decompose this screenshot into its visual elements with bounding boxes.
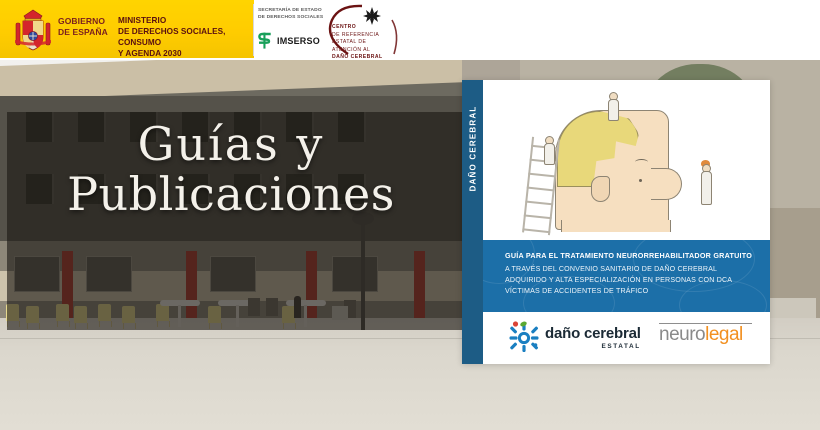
eye-icon — [635, 159, 648, 165]
cover-text-content: GUÍA PARA EL TRATAMIENTO NEURORREHABILIT… — [505, 251, 755, 297]
ladder-rung — [524, 214, 552, 219]
cover-logo-row: daño cerebral ESTATAL neurolegal — [483, 312, 770, 364]
starburst-icon — [363, 7, 381, 25]
neurolegal-part-2: legal — [705, 324, 743, 345]
neurolegal-logo: neurolegal — [659, 323, 759, 344]
neurolegal-part-1: neuro — [659, 324, 705, 345]
publication-cover-card[interactable]: DAÑO CEREBRAL — [462, 80, 770, 364]
government-line-2: DE ESPAÑA — [58, 27, 108, 38]
cover-spine: DAÑO CEREBRAL — [462, 80, 483, 364]
dano-cerebral-starburst-icon — [507, 320, 541, 354]
crea-line-3: ESTATAL DE — [332, 39, 402, 47]
state-secretariat-line-2: DE DERECHOS SOCIALES — [258, 15, 324, 22]
dano-cerebral-name: daño cerebral — [545, 326, 641, 341]
state-secretariat-line-1: SECRETARÍA DE ESTADO — [258, 8, 324, 15]
cover-headline: GUÍA PARA EL TRATAMIENTO NEURORREHABILIT… — [505, 251, 755, 260]
page-title: Guías y Publicaciones — [7, 122, 455, 216]
cover-body: GUÍA PARA EL TRATAMIENTO NEURORREHABILIT… — [483, 80, 770, 364]
figure-body — [608, 99, 619, 121]
figure-body — [544, 143, 555, 165]
neurolegal-wordmark: neurolegal — [659, 325, 759, 344]
crea-dano-cerebral-logo: CENTRO DE REFERENCIA ESTATAL DE ATENCIÓN… — [322, 4, 402, 57]
crea-line-5: DAÑO CEREBRAL — [332, 54, 402, 62]
imserso-logo-icon — [258, 32, 273, 49]
ladder-rung — [525, 200, 553, 205]
head-profile-with-ladder-illustration — [483, 80, 770, 238]
publications-banner: Guías y Publicaciones DAÑO CEREBRAL — [0, 0, 820, 430]
dano-cerebral-wordmark: daño cerebral ESTATAL — [545, 326, 641, 350]
state-secretariat-label: SECRETARÍA DE ESTADO DE DERECHOS SOCIALE… — [258, 8, 324, 21]
ladder-rail — [522, 137, 534, 233]
crea-line-4: ATENCIÓN AL — [332, 47, 402, 55]
ear-icon — [591, 176, 610, 202]
imserso-label: IMSERSO — [277, 36, 320, 46]
header-divider — [253, 4, 254, 56]
institutional-header: GOBIERNO DE ESPAÑA MINISTERIO DE DERECHO… — [0, 0, 820, 60]
ladder-rung — [522, 228, 550, 233]
cover-subline-1: A TRAVÉS DEL CONVENIO SANITARIO DE DAÑO … — [505, 264, 755, 275]
dano-cerebral-subtitle: ESTATAL — [545, 343, 641, 350]
cover-text-block: GUÍA PARA EL TRATAMIENTO NEURORREHABILIT… — [483, 240, 770, 312]
spain-coat-of-arms-icon — [13, 7, 53, 52]
ministry-wordmark: MINISTERIO DE DERECHOS SOCIALES, CONSUMO… — [118, 15, 253, 59]
crea-line-2: DE REFERENCIA — [332, 32, 402, 40]
roof-cornice — [0, 58, 462, 100]
crea-line-1: CENTRO — [332, 24, 402, 32]
title-line-2: Publicaciones — [7, 172, 455, 216]
nose-shape — [651, 168, 682, 200]
government-wordmark: GOBIERNO DE ESPAÑA — [58, 16, 108, 38]
title-line-1: Guías y — [7, 122, 455, 166]
nostril-icon — [639, 179, 642, 182]
ladder-rung — [527, 187, 555, 192]
spine-label: DAÑO CEREBRAL — [469, 91, 478, 207]
imserso-logo: IMSERSO — [258, 32, 320, 49]
ministry-line-1: MINISTERIO — [118, 15, 253, 26]
figure-body — [701, 171, 712, 205]
neck-shape — [561, 220, 671, 232]
dano-cerebral-logo: daño cerebral ESTATAL — [507, 320, 641, 354]
cover-subline-3: VÍCTIMAS DE ACCIDENTES DE TRÁFICO — [505, 286, 755, 297]
ministry-line-3: Y AGENDA 2030 — [118, 48, 253, 59]
ministry-line-2: DE DERECHOS SOCIALES, CONSUMO — [118, 26, 253, 48]
cover-subline-2: ADQUIRIDO Y ALTA ESPECIALIZACIÓN EN PERS… — [505, 275, 755, 286]
crea-wordmark: CENTRO DE REFERENCIA ESTATAL DE ATENCIÓN… — [332, 24, 402, 62]
ladder-rung — [528, 173, 556, 178]
government-line-1: GOBIERNO — [58, 16, 108, 27]
